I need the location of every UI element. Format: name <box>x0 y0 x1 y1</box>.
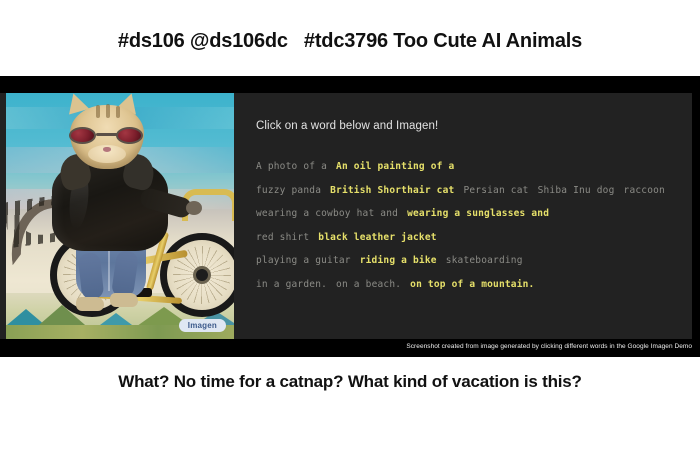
sunglasses-lens-left <box>69 127 96 144</box>
prompt-word-picker: Click on a word below and Imagen! A phot… <box>250 93 692 339</box>
word-option[interactable]: Persian cat <box>463 185 528 196</box>
generated-image: Imagen <box>6 93 234 339</box>
cat-nose <box>103 147 111 152</box>
word-rows: A photo of aAn oil painting of afuzzy pa… <box>256 153 692 294</box>
word-option[interactable]: red shirt <box>256 232 309 243</box>
cat-forehead-stripe <box>96 105 100 118</box>
cat-forehead-stripe <box>116 106 120 118</box>
word-row: wearing a cowboy hat andwearing a sungla… <box>256 200 692 224</box>
prompt-hint-text: Click on a word below and Imagen! <box>256 120 438 132</box>
imagen-watermark: Imagen <box>179 319 226 332</box>
sunglasses-icon <box>68 127 146 144</box>
cat-paw <box>186 201 202 215</box>
word-option[interactable]: Shiba Inu dog <box>538 185 615 196</box>
source-caption-text: Screenshot created from image generated … <box>406 343 692 350</box>
word-row: red shirtblack leather jacket <box>256 224 692 248</box>
word-row: playing a guitarriding a bikeskateboardi… <box>256 247 692 271</box>
wheel-hub <box>193 266 211 284</box>
slide-caption: What? No time for a catnap? What kind of… <box>0 372 700 392</box>
word-option[interactable]: wearing a cowboy hat and <box>256 208 398 219</box>
word-option-selected[interactable]: wearing a sunglasses and <box>407 208 549 219</box>
word-option[interactable]: raccoon <box>624 185 665 196</box>
painting-canvas: Imagen <box>6 93 234 339</box>
word-option[interactable]: A photo of a <box>256 161 327 172</box>
word-option-selected[interactable]: British Shorthair cat <box>330 185 454 196</box>
bicycle-wheel-front <box>160 233 234 317</box>
word-option-selected[interactable]: black leather jacket <box>318 232 436 243</box>
cat-on-bike <box>36 101 206 331</box>
cat-forehead-stripe <box>106 104 110 118</box>
source-caption-bar: Screenshot created from image generated … <box>0 339 700 357</box>
word-option[interactable]: in a garden. <box>256 279 327 290</box>
word-option[interactable]: playing a guitar <box>256 255 351 266</box>
sunglasses-lens-right <box>116 127 143 144</box>
word-row: in a garden.on a beach.on top of a mount… <box>256 271 692 295</box>
word-row: fuzzy pandaBritish Shorthair catPersian … <box>256 177 692 201</box>
cat-boot-front <box>110 293 138 307</box>
embedded-screenshot: Imagen Click on a word below and Imagen!… <box>0 76 700 357</box>
word-option-selected[interactable]: on top of a mountain. <box>410 279 534 290</box>
sunglasses-bridge <box>96 133 118 136</box>
word-option-selected[interactable]: riding a bike <box>360 255 437 266</box>
word-option-selected[interactable]: An oil painting of a <box>336 161 454 172</box>
word-option[interactable]: fuzzy panda <box>256 185 321 196</box>
word-row: A photo of aAn oil painting of a <box>256 153 692 177</box>
word-option[interactable]: skateboarding <box>446 255 523 266</box>
page-title: #ds106 @ds106dc #tdc3796 Too Cute AI Ani… <box>0 30 700 53</box>
word-option[interactable]: on a beach. <box>336 279 401 290</box>
cat-boot-back <box>76 297 104 311</box>
imagen-demo-panel: Imagen Click on a word below and Imagen!… <box>0 93 692 339</box>
